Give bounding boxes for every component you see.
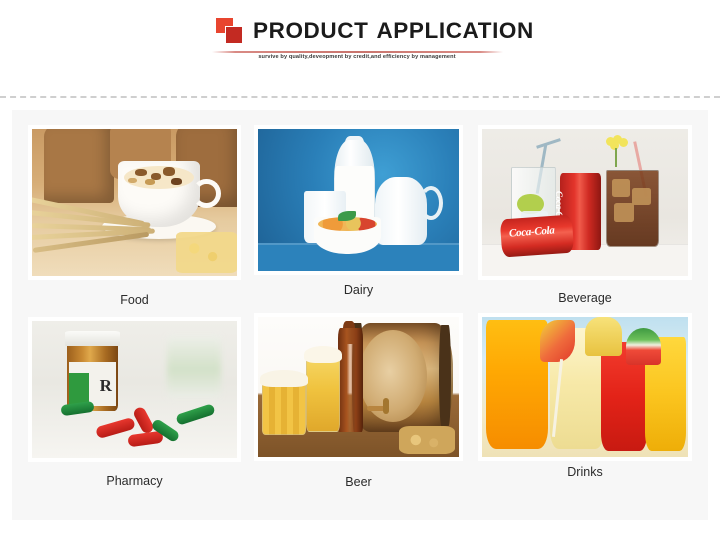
brand-logo-block: PRODUCTAPPLICATION survive by quality,de… (207, 14, 507, 72)
drinks-photo (482, 317, 688, 457)
gallery-item-beer[interactable]: Beer (254, 313, 463, 461)
red-capsule (128, 431, 164, 448)
gallery-caption-drinks: Drinks (478, 465, 692, 479)
gallery-caption-beverage: Beverage (478, 291, 692, 305)
beverage-photo-frame: Coca-Cola Coca-Cola (478, 125, 692, 280)
ice-cube (632, 188, 651, 206)
yellow-flower (597, 135, 634, 167)
milk-jug (375, 177, 427, 245)
tap-handle (383, 398, 389, 414)
prescription-symbol: R (100, 376, 112, 396)
gallery-caption-pharmacy: Pharmacy (28, 474, 241, 488)
page-title: PRODUCTAPPLICATION (253, 16, 534, 46)
two-red-squares-logo-icon (216, 17, 246, 45)
page-subtitle: survive by quality,deveopment by credit,… (207, 54, 507, 60)
page-title-word-1: PRODUCT (253, 18, 368, 43)
cereal-fleck (163, 167, 175, 176)
dairy-photo-frame (254, 125, 463, 275)
gallery-item-food[interactable]: Food (28, 125, 241, 280)
pharmacy-photo-frame: R (28, 317, 241, 462)
beer-photo (258, 317, 459, 457)
gallery-item-dairy[interactable]: Dairy (254, 125, 463, 275)
product-gallery-grid: Food Dairy (12, 110, 708, 520)
pineapple-wedge-garnish (585, 317, 622, 356)
ice-cube (614, 203, 635, 222)
beer-glass-foam (304, 346, 342, 363)
orange-juice-glass (486, 320, 548, 449)
gallery-caption-food: Food (28, 293, 241, 307)
wheat-stalks (32, 179, 155, 270)
page-header: PRODUCTAPPLICATION survive by quality,de… (0, 0, 720, 97)
beer-mug (262, 379, 306, 435)
header-dashed-divider (0, 96, 720, 98)
page-title-word-2: APPLICATION (376, 18, 533, 43)
cereal-fleck (171, 178, 181, 185)
ice-cube (612, 179, 631, 197)
flower-petal (619, 138, 628, 147)
mango-slice-garnish (540, 320, 575, 362)
barrel-tap (367, 398, 403, 434)
title-underline-rule (212, 51, 503, 53)
straw-left-bend (536, 138, 560, 148)
beer-photo-frame (254, 313, 463, 461)
corn-flakes-pile (176, 232, 238, 273)
barrel-hoop (439, 325, 451, 426)
beverage-photo: Coca-Cola Coca-Cola (482, 129, 688, 276)
flower-stem (615, 148, 617, 167)
milk-jug-handle (419, 186, 443, 220)
pharmacy-photo: R (32, 321, 237, 458)
drinks-photo-frame (478, 313, 692, 461)
beer-mug-foam (260, 370, 308, 387)
gallery-item-beverage[interactable]: Coca-Cola Coca-Cola Beverage (478, 125, 692, 280)
grain-pile (399, 426, 455, 454)
cereal-fleck (135, 169, 147, 176)
food-photo (32, 129, 237, 276)
beer-bottle (338, 328, 362, 432)
green-capsule (60, 401, 94, 416)
gallery-item-pharmacy[interactable]: R Pharmacy (28, 317, 241, 462)
logo-row: PRODUCTAPPLICATION (207, 14, 507, 48)
content-panel: Food Dairy (12, 110, 708, 520)
background-blur-object (167, 335, 220, 398)
red-capsule (132, 406, 155, 435)
gallery-caption-beer: Beer (254, 475, 463, 489)
green-capsule (175, 403, 215, 425)
cup-handle (192, 179, 221, 208)
food-photo-frame (28, 125, 241, 280)
gallery-caption-dairy: Dairy (254, 283, 463, 297)
beer-glass (306, 353, 340, 431)
dairy-photo (258, 129, 459, 271)
logo-square-dark-icon (225, 26, 243, 44)
gallery-item-drinks[interactable]: Drinks (478, 313, 692, 461)
watermelon-slice-garnish (626, 328, 661, 364)
pill-bottle-cap (65, 331, 120, 346)
